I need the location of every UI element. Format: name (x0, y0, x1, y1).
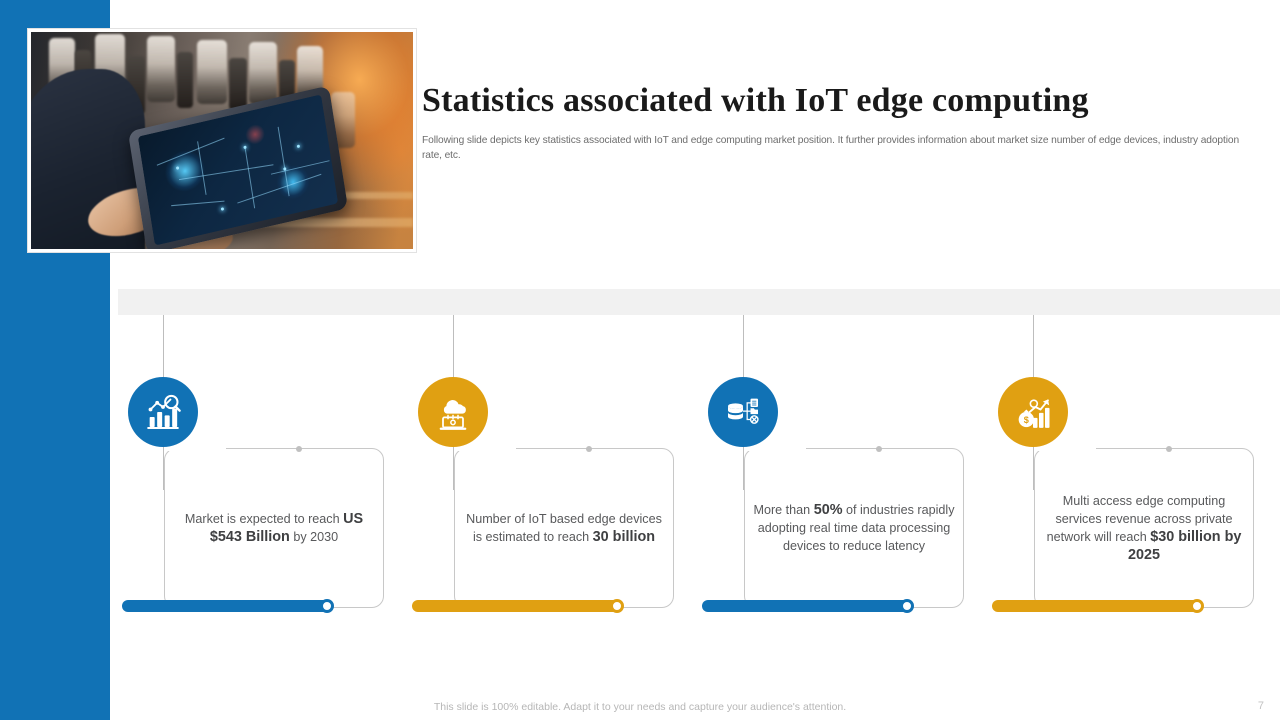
hero-image (31, 32, 413, 249)
statistic-column-3: More than 50% of industries rapidly adop… (690, 315, 980, 625)
outline-gap (1034, 447, 1096, 451)
market-analytics-icon (128, 377, 198, 447)
outline-gap (164, 447, 226, 451)
statistic-text: Number of IoT based edge devices is esti… (461, 510, 667, 546)
card-progress-bar (702, 600, 912, 612)
statistics-card-row: Market is expected to reach US $543 Bill… (110, 315, 1280, 625)
statistic-card: Number of IoT based edge devices is esti… (454, 448, 674, 608)
card-marker-dot (1166, 446, 1172, 452)
robot-arm-icon (249, 42, 277, 104)
statistic-card: More than 50% of industries rapidly adop… (744, 448, 964, 608)
card-marker-dot (296, 446, 302, 452)
bar-end-cap (610, 599, 624, 613)
bar-end-cap (320, 599, 334, 613)
editable-footer-note: This slide is 100% editable. Adapt it to… (0, 701, 1280, 713)
outline-gap (744, 447, 806, 451)
page-number: 7 (1258, 700, 1264, 712)
robot-arm-icon (177, 52, 193, 108)
database-network-icon (708, 377, 778, 447)
statistic-column-4: $ Multi access edge computing services r… (980, 315, 1270, 625)
bar-end-cap (900, 599, 914, 613)
money-growth-icon: $ (998, 377, 1068, 447)
divider-band (118, 289, 1280, 315)
card-marker-dot (876, 446, 882, 452)
statistic-card: Multi access edge computing services rev… (1034, 448, 1254, 608)
page-title: Statistics associated with IoT edge comp… (422, 82, 1252, 120)
bar-end-cap (1190, 599, 1204, 613)
statistic-card: Market is expected to reach US $543 Bill… (164, 448, 384, 608)
svg-text:$: $ (1024, 415, 1029, 425)
robot-arm-icon (197, 40, 227, 104)
outline-gap (454, 447, 516, 451)
card-progress-bar (992, 600, 1202, 612)
statistic-text: More than 50% of industries rapidly adop… (751, 501, 957, 555)
statistic-text: Multi access edge computing services rev… (1041, 492, 1247, 564)
page-subtitle: Following slide depicts key statistics a… (422, 133, 1242, 163)
cloud-laptop-icon (418, 377, 488, 447)
statistic-text: Market is expected to reach US $543 Bill… (171, 510, 377, 546)
hero-image-frame (28, 29, 416, 252)
statistic-column-2: Number of IoT based edge devices is esti… (400, 315, 690, 625)
robot-arm-icon (229, 58, 247, 110)
card-progress-bar (122, 600, 332, 612)
card-progress-bar (412, 600, 622, 612)
card-marker-dot (586, 446, 592, 452)
statistic-column-1: Market is expected to reach US $543 Bill… (110, 315, 400, 625)
robot-arm-icon (147, 36, 175, 102)
